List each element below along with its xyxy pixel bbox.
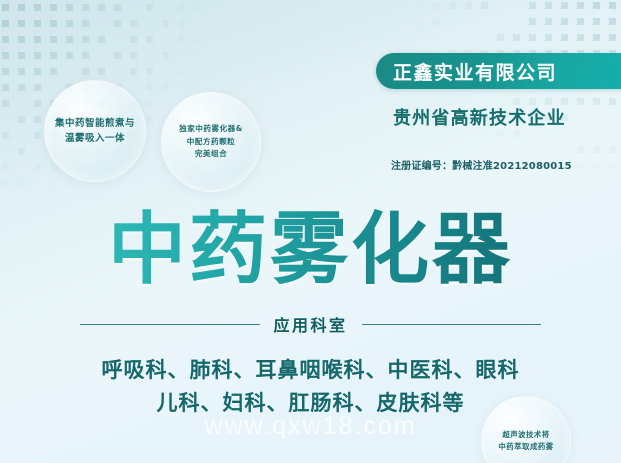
- feature-bubble-decoction: 集中药智能煎煮与 温雾吸入一体: [44, 80, 146, 182]
- company-name-banner: 正鑫实业有限公司: [376, 53, 621, 89]
- section-heading-rule-right: [362, 324, 542, 325]
- feature-bubble-ultrasonic-line-2: 中药萃取成药雾: [498, 441, 553, 453]
- certification-label: 贵州省高新技术企业: [393, 104, 566, 130]
- registration-number-label: 注册证编号：黔械注准20212080015: [391, 157, 572, 172]
- departments-line-1: 呼吸科、肺科、耳鼻咽喉科、中医科、眼科: [0, 354, 621, 387]
- departments-list: 呼吸科、肺科、耳鼻咽喉科、中医科、眼科 儿科、妇科、肛肠科、皮肤科等: [0, 354, 621, 420]
- section-heading-rule-left: [80, 324, 260, 325]
- feature-bubble-formula-line-1: 独家中药雾化器&: [179, 123, 243, 136]
- feature-bubble-decoction-line-2: 温雾吸入一体: [65, 131, 125, 146]
- site-watermark: www.qxw18.com: [0, 412, 621, 441]
- product-poster: 集中药智能煎煮与 温雾吸入一体 独家中药雾化器& 中配方药颗粒 完美组合 超声波…: [0, 0, 621, 463]
- feature-bubble-decoction-line-1: 集中药智能煎煮与: [55, 116, 135, 131]
- feature-bubble-formula-line-2: 中配方药颗粒: [187, 136, 236, 149]
- section-heading-label: 应用科室: [274, 312, 348, 336]
- page-title: 中药雾化器: [0, 206, 621, 294]
- company-name-label: 正鑫实业有限公司: [376, 58, 557, 85]
- feature-bubble-formula: 独家中药雾化器& 中配方药颗粒 完美组合: [161, 92, 261, 192]
- section-heading: 应用科室: [80, 312, 541, 336]
- feature-bubble-formula-line-3: 完美组合: [195, 148, 227, 161]
